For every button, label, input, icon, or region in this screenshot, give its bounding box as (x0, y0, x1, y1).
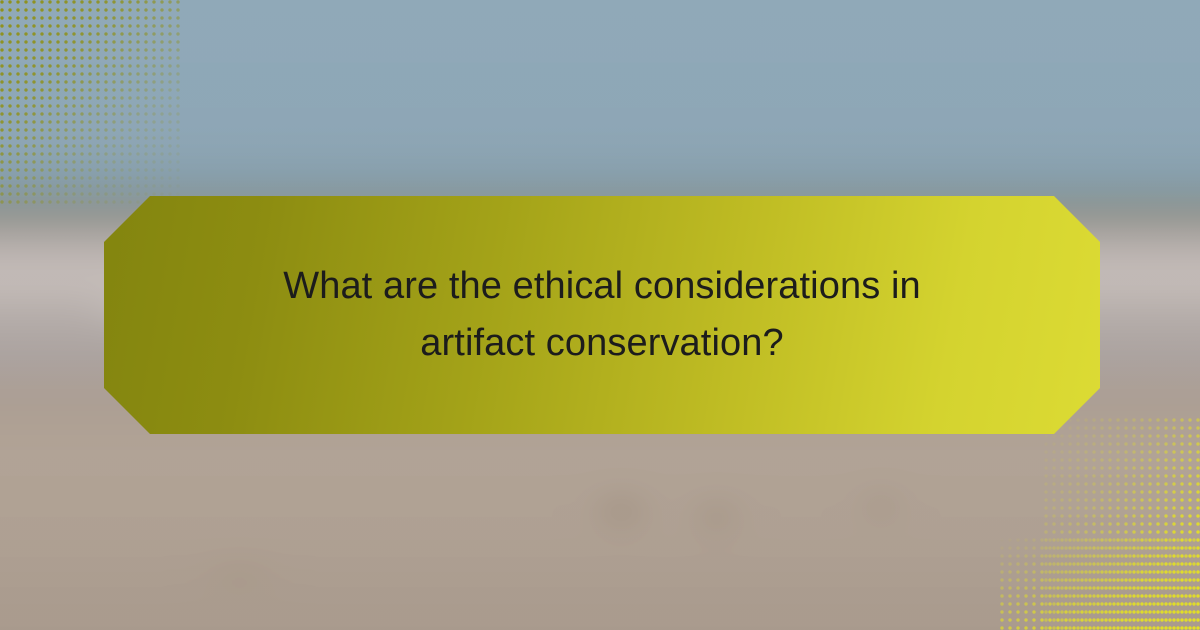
question-text: What are the ethical considerations in a… (232, 258, 972, 372)
question-card-canvas: What are the ethical considerations in a… (0, 0, 1200, 630)
question-banner: What are the ethical considerations in a… (104, 196, 1100, 434)
